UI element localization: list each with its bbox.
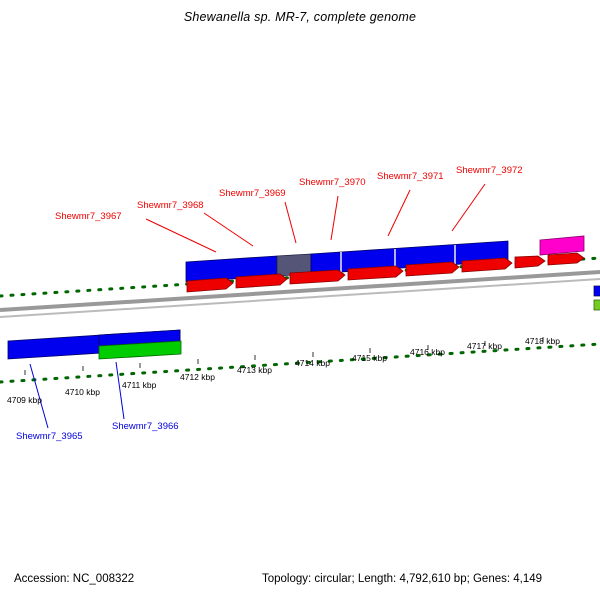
- gene-label-3967[interactable]: Shewmr7_3967: [55, 211, 122, 222]
- gene-arrow-red-1: [187, 278, 233, 292]
- ruler-label-4716: 4716 kbp: [410, 347, 445, 357]
- ruler-label-4713: 4713 kbp: [237, 365, 272, 375]
- gene-arrow-red-3: [290, 270, 345, 284]
- genome-viewer: Shewanella sp. MR-7, complete genome: [0, 0, 600, 600]
- gene-label-3971[interactable]: Shewmr7_3971: [377, 171, 444, 182]
- edge-feature-group: [594, 286, 600, 310]
- gene-label-3965[interactable]: Shewmr7_3965: [16, 431, 83, 442]
- accession-text: Accession: NC_008322: [14, 573, 134, 585]
- gene-arrow-red-2: [236, 274, 287, 288]
- ruler-label-4712: 4712 kbp: [180, 372, 215, 382]
- gene-label-3972[interactable]: Shewmr7_3972: [456, 165, 523, 176]
- ruler-label-4711: 4711 kbp: [122, 380, 156, 390]
- gene-arrow-lower-group[interactable]: [8, 330, 181, 359]
- label-leader-lines: [146, 184, 485, 252]
- gene-arrow-red-8: [548, 253, 584, 265]
- gene-arrow-red-7: [515, 256, 545, 268]
- ruler-label-4718: 4718 kbp: [525, 336, 560, 346]
- ruler-label-4717: 4717 kbp: [467, 341, 502, 351]
- gene-label-3969[interactable]: Shewmr7_3969: [219, 188, 286, 199]
- ruler-label-4715: 4715 kbp: [352, 353, 387, 363]
- gene-label-3966[interactable]: Shewmr7_3966: [112, 421, 179, 432]
- ruler-label-4709: 4709 kbp: [7, 395, 42, 405]
- ruler-label-4710: 4710 kbp: [65, 387, 100, 397]
- genome-map-canvas: [0, 0, 600, 600]
- gene-label-3970[interactable]: Shewmr7_3970: [299, 177, 366, 188]
- gene-arrow-red-4: [348, 266, 403, 280]
- gene-arrow-red-6: [462, 258, 512, 272]
- gene-arrow-red-5: [406, 262, 459, 276]
- genome-summary-text: Topology: circular; Length: 4,792,610 bp…: [262, 573, 542, 585]
- gene-label-3968[interactable]: Shewmr7_3968: [137, 200, 204, 211]
- ruler-label-4714: 4714 kbp: [295, 358, 330, 368]
- gene-arrow-magenta: [540, 236, 584, 255]
